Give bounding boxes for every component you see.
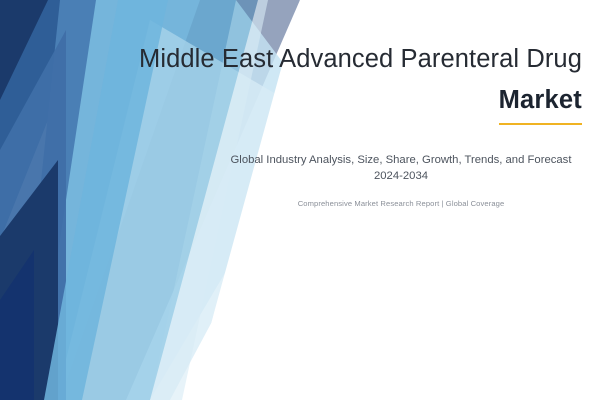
report-tagline: Comprehensive Market Research Report | G… — [220, 198, 582, 210]
cover-text-block: Middle East Advanced Parenteral Drug Mar… — [100, 0, 600, 400]
page-title: Middle East Advanced Parenteral Drug — [118, 42, 582, 76]
page-subtitle: Market — [499, 82, 582, 125]
report-cover: Middle East Advanced Parenteral Drug Mar… — [0, 0, 600, 400]
subtitle-container: Market — [118, 82, 582, 125]
report-description: Global Industry Analysis, Size, Share, G… — [220, 152, 582, 184]
